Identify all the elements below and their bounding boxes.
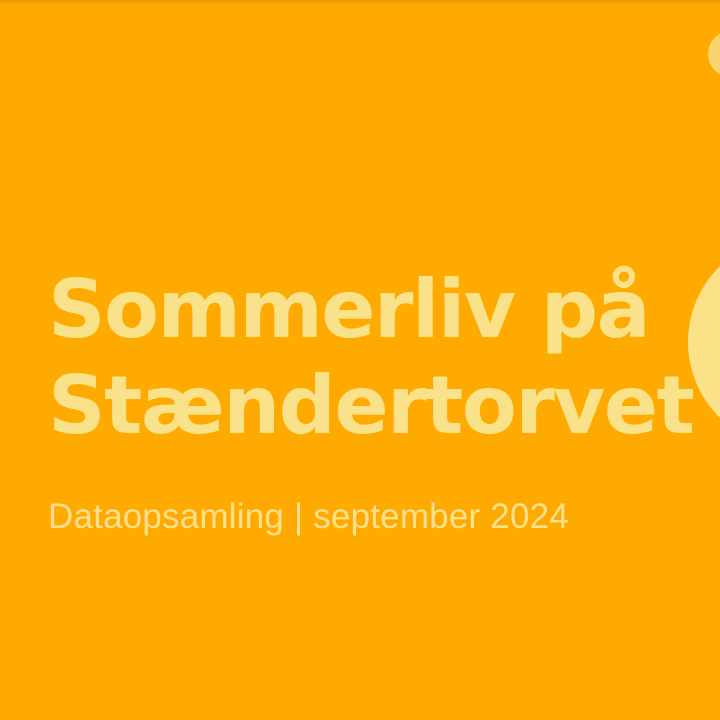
title-block: Sommerliv på Stændertorvet Dataopsamling… [48, 262, 720, 538]
page-title: Sommerliv på Stændertorvet [48, 262, 720, 454]
top-edge-shadow [0, 0, 720, 4]
page-title-line-2: Stændertorvet [48, 358, 720, 454]
title-slide: Sommerliv på Stændertorvet Dataopsamling… [0, 0, 720, 720]
small-pale-circle-icon [708, 31, 720, 77]
page-title-line-1: Sommerliv på [48, 262, 720, 358]
page-subtitle: Dataopsamling | september 2024 [48, 454, 720, 538]
